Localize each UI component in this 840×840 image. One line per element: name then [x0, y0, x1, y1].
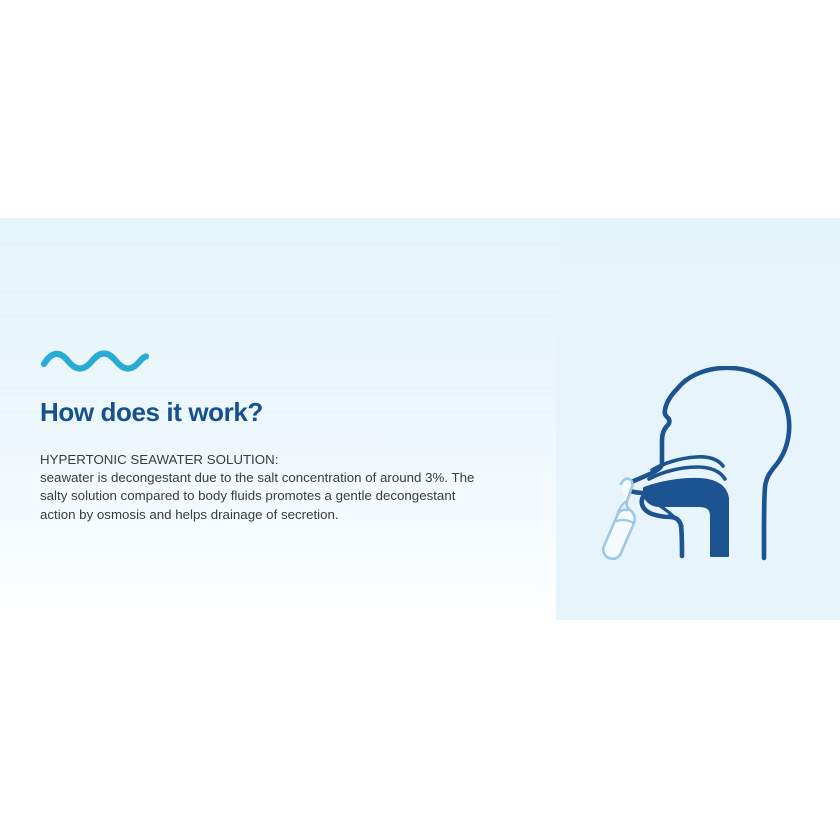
- page-title: How does it work?: [40, 398, 510, 428]
- wave-divider-icon: [40, 350, 150, 372]
- content-text-column: How does it work? HYPERTONIC SEAWATER SO…: [40, 350, 510, 524]
- body-copy: HYPERTONIC SEAWATER SOLUTION: seawater i…: [40, 451, 480, 524]
- nasal-spray-bottle-icon: [603, 479, 635, 559]
- page-root: How does it work? HYPERTONIC SEAWATER SO…: [0, 0, 840, 840]
- nasal-spray-head-anatomy-illustration: [594, 366, 814, 571]
- body-copy-paragraph: seawater is decongestant due to the salt…: [40, 470, 474, 521]
- illustration-card: [556, 318, 840, 620]
- body-copy-lead: HYPERTONIC SEAWATER SOLUTION:: [40, 451, 480, 469]
